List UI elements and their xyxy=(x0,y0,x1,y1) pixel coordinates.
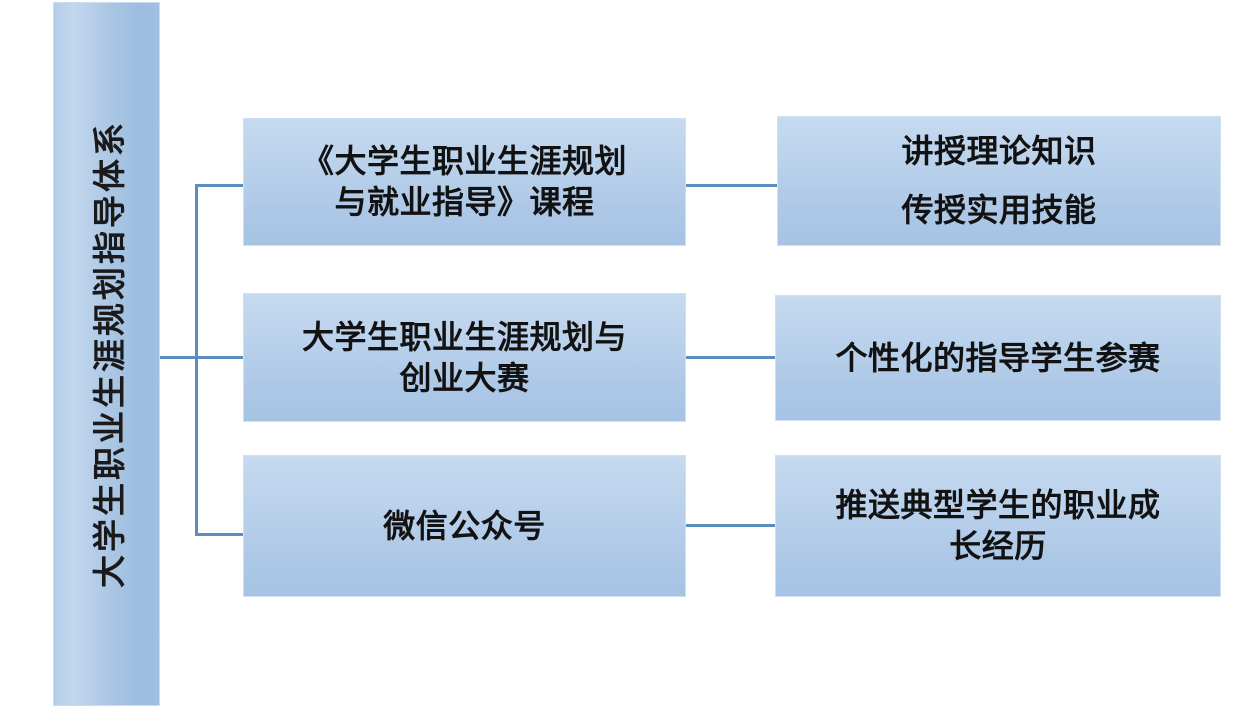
root-node-bar[interactable]: 大学生职业生涯规划指导体系 xyxy=(53,2,160,706)
root-node-label: 大学生职业生涯规划指导体系 xyxy=(83,120,131,588)
org-diagram: 大学生职业生涯规划指导体系 《大学生职业生涯规划 与就业指导》课程 大学生职业生… xyxy=(0,0,1247,720)
measure-node-2[interactable]: 大学生职业生涯规划与 创业大赛 xyxy=(243,293,686,422)
outcome-node-1-line-1: 讲授理论知识 xyxy=(901,131,1096,172)
connector-root-stem xyxy=(160,356,198,359)
measure-node-1-line-1: 《大学生职业生涯规划 xyxy=(302,141,627,182)
outcome-node-2-line-1: 个性化的指导学生参赛 xyxy=(835,338,1160,379)
outcome-node-2[interactable]: 个性化的指导学生参赛 xyxy=(775,295,1221,421)
measure-node-2-line-2: 创业大赛 xyxy=(302,358,627,399)
outcome-node-3-line-1: 推送典型学生的职业成 xyxy=(835,485,1160,526)
connector-link-row-1 xyxy=(686,184,778,187)
measure-node-3-line-1: 微信公众号 xyxy=(383,506,546,547)
connector-arm-row-2 xyxy=(195,356,245,359)
measure-node-1[interactable]: 《大学生职业生涯规划 与就业指导》课程 xyxy=(243,118,686,246)
connector-link-row-2 xyxy=(686,356,776,359)
connector-trunk xyxy=(195,184,198,536)
outcome-node-3[interactable]: 推送典型学生的职业成 长经历 xyxy=(775,455,1221,597)
outcome-node-3-line-2: 长经历 xyxy=(835,526,1160,567)
connector-link-row-3 xyxy=(686,524,776,527)
connector-arm-row-1 xyxy=(195,184,245,187)
measure-node-3[interactable]: 微信公众号 xyxy=(243,455,686,597)
connector-arm-row-3 xyxy=(195,533,245,536)
measure-node-2-line-1: 大学生职业生涯规划与 xyxy=(302,317,627,358)
measure-node-1-line-2: 与就业指导》课程 xyxy=(302,182,627,223)
outcome-node-1-line-2: 传授实用技能 xyxy=(901,190,1096,231)
outcome-node-1[interactable]: 讲授理论知识 传授实用技能 xyxy=(777,116,1221,246)
